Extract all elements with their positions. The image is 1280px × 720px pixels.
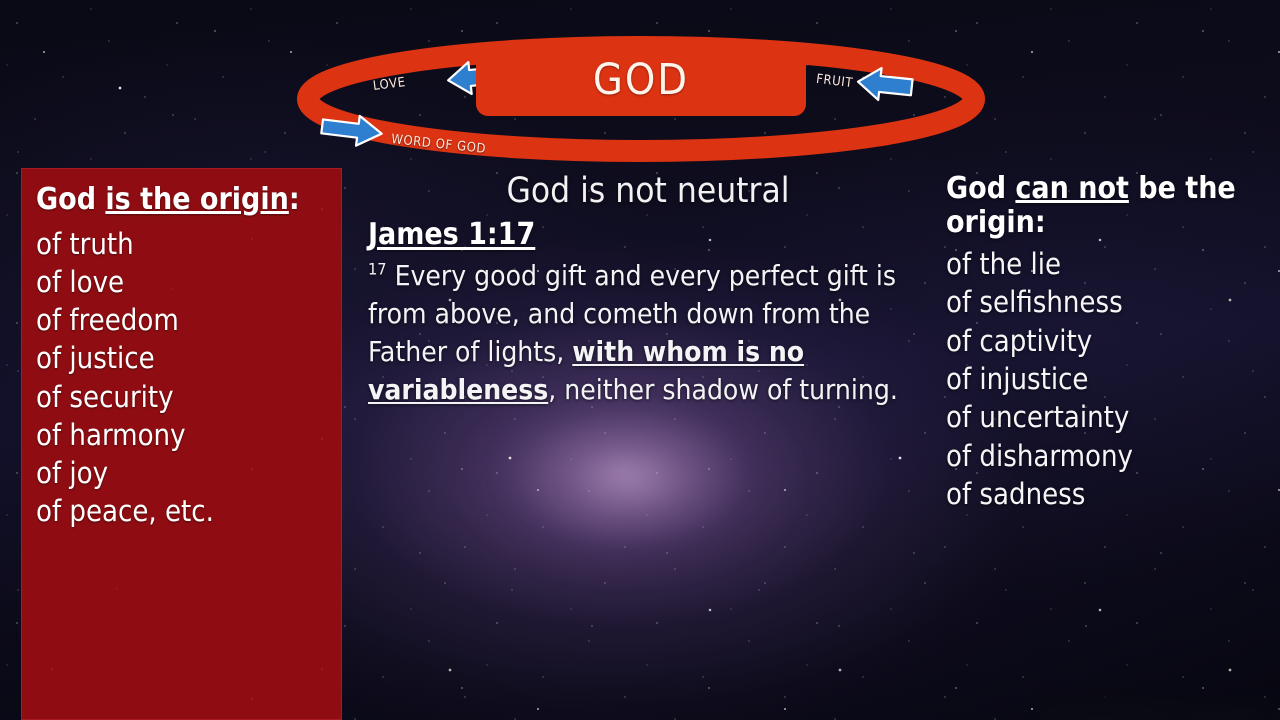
list-item: of love <box>36 263 341 301</box>
right-not-origin-column: God can not be the origin: of the lie of… <box>946 172 1276 513</box>
verse-part-2: , neither shadow of turning. <box>548 373 898 406</box>
slide-canvas: GOD LOVE FRUIT WORD OF GOD God is the or… <box>0 0 1280 720</box>
arrow-left-icon-fruit <box>856 66 913 103</box>
list-item: of disharmony <box>946 437 1276 475</box>
list-item: of harmony <box>36 416 341 454</box>
god-label: GOD <box>593 59 689 102</box>
arrow-right-icon-word <box>320 111 383 148</box>
list-item: of peace, etc. <box>36 492 341 530</box>
verse-body: 17 Every good gift and every perfect gif… <box>368 257 934 409</box>
right-heading-prefix: God <box>946 171 1015 206</box>
list-item: of selfishness <box>946 283 1276 321</box>
list-item: of the lie <box>946 245 1276 283</box>
list-item: of truth <box>36 225 341 263</box>
verse-number: 17 <box>368 260 387 279</box>
center-content-column: God is not neutral James 1:17 17 Every g… <box>362 172 934 410</box>
list-item: of security <box>36 378 341 416</box>
left-heading-prefix: God <box>36 182 105 217</box>
list-item: of joy <box>36 454 341 492</box>
left-origin-panel: God is the origin: of truth of love of f… <box>21 168 342 720</box>
list-item: of captivity <box>946 322 1276 360</box>
list-item: of justice <box>36 339 341 377</box>
right-heading-underlined: can not <box>1015 171 1128 206</box>
right-panel-list: of the lie of selfishness of captivity o… <box>946 245 1276 513</box>
god-center-box: GOD <box>476 44 806 116</box>
list-item: of injustice <box>946 360 1276 398</box>
left-heading-underlined: is the origin <box>105 182 288 217</box>
left-heading-suffix: : <box>289 182 300 217</box>
list-item: of sadness <box>946 475 1276 513</box>
horizon-silhouette <box>1040 662 1280 720</box>
right-panel-heading: God can not be the origin: <box>946 172 1276 239</box>
list-item: of freedom <box>36 301 341 339</box>
left-panel-list: of truth of love of freedom of justice o… <box>36 225 341 531</box>
left-panel-heading: God is the origin: <box>36 183 341 217</box>
list-item: of uncertainty <box>946 398 1276 436</box>
verse-reference: James 1:17 <box>368 217 934 253</box>
center-title: God is not neutral <box>362 172 934 211</box>
